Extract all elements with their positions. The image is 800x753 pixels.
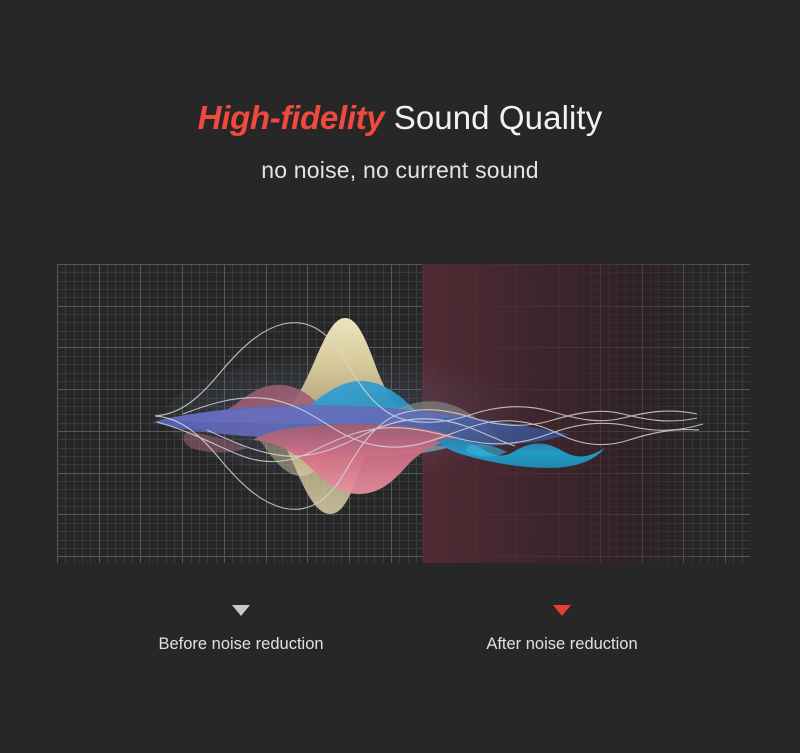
page-title-accent: High-fidelity (198, 99, 385, 136)
legend-label-before: Before noise reduction (158, 633, 323, 655)
legend-label-after: After noise reduction (486, 633, 637, 655)
page-title-rest: Sound Quality (384, 99, 602, 136)
waveform-chart (57, 264, 750, 563)
page-title: High-fidelity Sound Quality (0, 98, 800, 138)
page-subtitle: no noise, no current sound (0, 155, 800, 185)
triangle-down-icon-before (232, 605, 250, 616)
triangle-down-icon-after (553, 605, 571, 616)
promo-page: High-fidelity Sound Quality no noise, no… (0, 0, 800, 753)
waveform-graphic (57, 264, 750, 563)
